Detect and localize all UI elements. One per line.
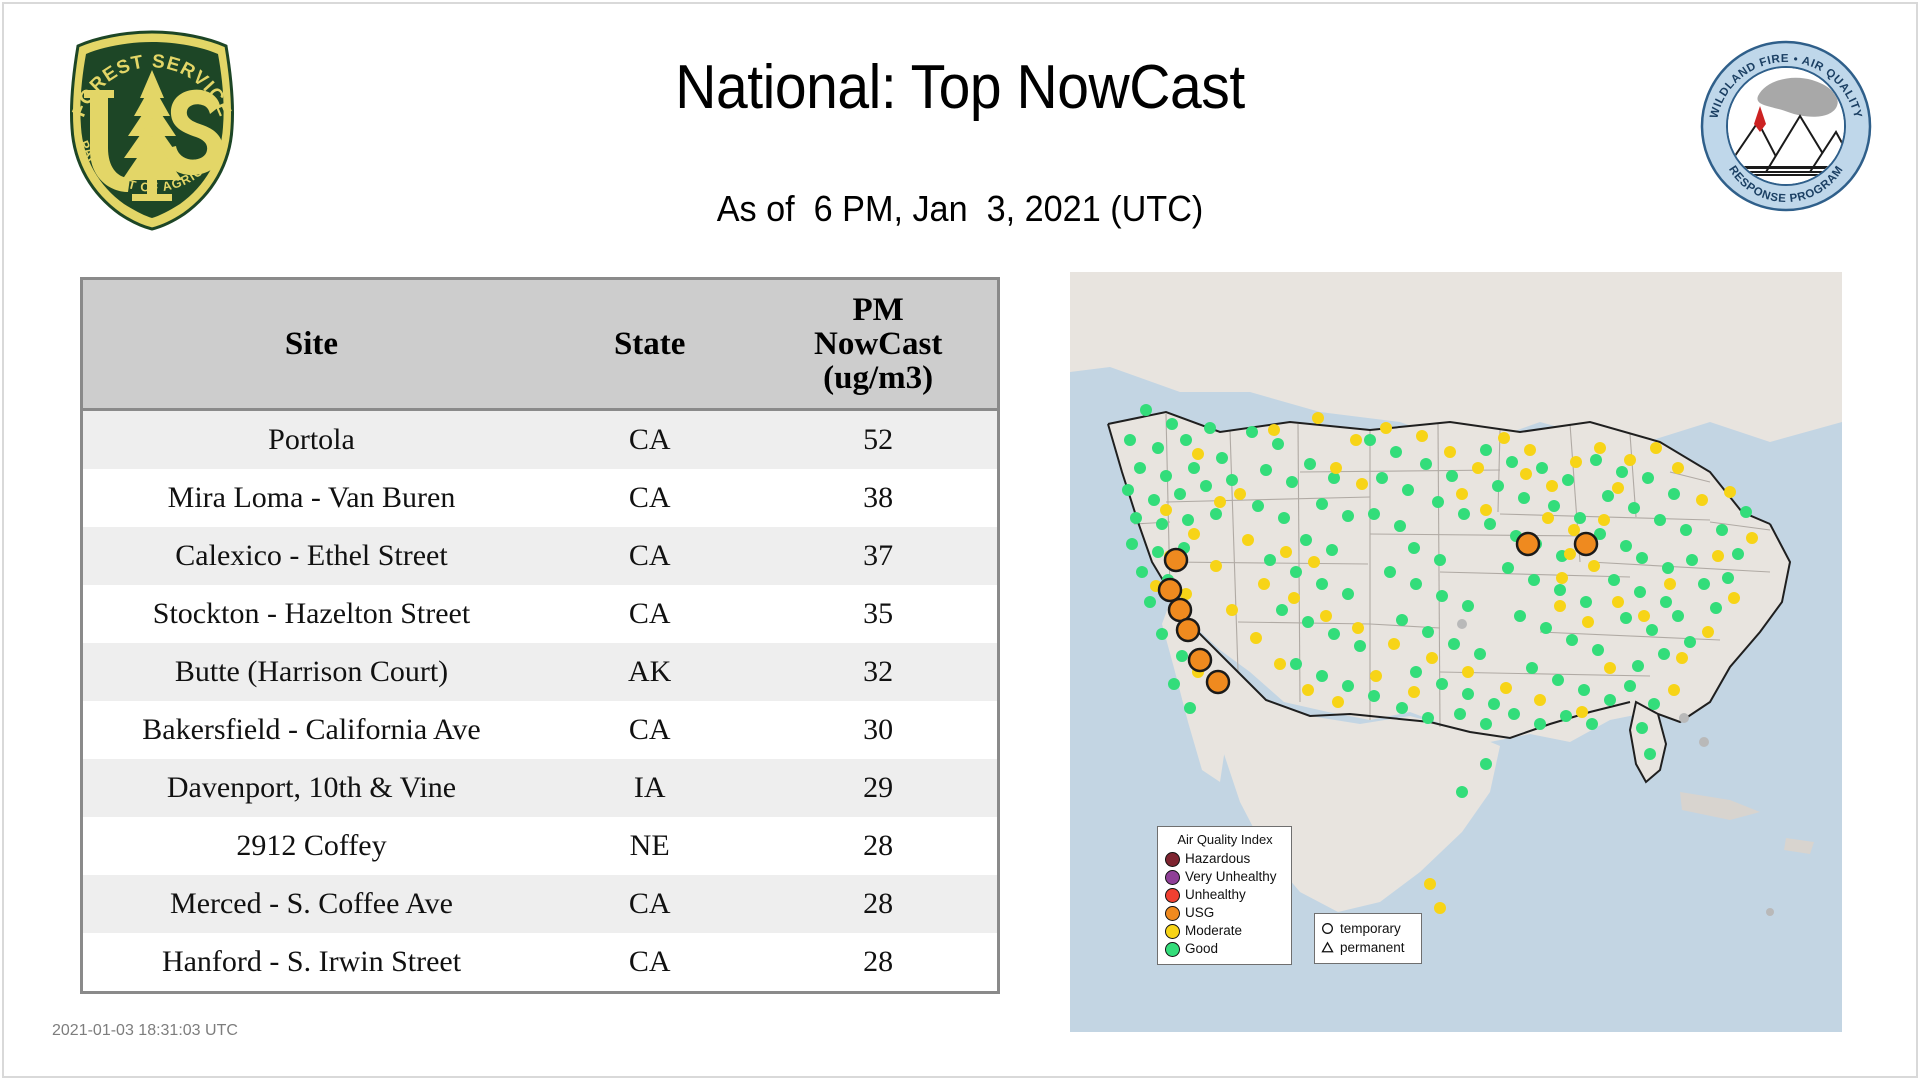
report-page: FOREST SERVICE DEPARTMENT OF AGRICULTURE [0,0,1920,1080]
aqi-color-swatch-icon [1165,888,1180,903]
footer-timestamp: 2021-01-03 18:31:03 UTC [52,1022,238,1040]
aqi-legend-row: Moderate [1165,922,1285,940]
table-cell-pm: 29 [759,759,997,817]
aqi-legend-label: Moderate [1185,924,1242,938]
column-header-pm-line-1: PM [759,293,997,327]
aqi-legend-label: Good [1185,942,1218,956]
column-header-pm-line-3: (ug/m3) [759,361,997,395]
table-cell-site: Mira Loma - Van Buren [83,469,540,527]
table-cell-site: Merced - S. Coffee Ave [83,875,540,933]
table-cell-pm: 35 [759,585,997,643]
aqi-legend-row: Good [1165,940,1285,958]
aqi-color-swatch-icon [1165,870,1180,885]
column-header-state-label: State [614,326,685,362]
table-body: PortolaCA52Mira Loma - Van BurenCA38Cale… [83,410,997,992]
table-cell-site: Calexico - Ethel Street [83,527,540,585]
table-cell-pm: 37 [759,527,997,585]
circle-icon [1321,922,1334,935]
legend-label-permanent: permanent [1340,941,1405,955]
aqi-color-swatch-icon [1165,942,1180,957]
wfaqrp-badge-logo: WILDLAND FIRE • AIR QUALITY RESPONSE PRO… [1700,40,1872,212]
monitor-type-legend: temporary permanent [1314,913,1422,964]
aqi-legend: Air Quality Index HazardousVery Unhealth… [1157,826,1292,965]
page-subtitle: As of 6 PM, Jan 3, 2021 (UTC) [48,188,1872,230]
table-cell-state: CA [540,875,759,933]
table-cell-state: IA [540,759,759,817]
column-header-state: State [540,280,759,410]
page-title: National: Top NowCast [77,52,1843,123]
aqi-color-swatch-icon [1165,852,1180,867]
table-cell-state: NE [540,817,759,875]
table-cell-site: Hanford - S. Irwin Street [83,933,540,991]
table-cell-site: 2912 Coffey [83,817,540,875]
aqi-legend-row: Unhealthy [1165,886,1285,904]
table-cell-pm: 28 [759,817,997,875]
legend-row-permanent: permanent [1321,938,1415,957]
aqi-legend-items: HazardousVery UnhealthyUnhealthyUSGModer… [1165,850,1285,958]
table-cell-site: Bakersfield - California Ave [83,701,540,759]
table-row: Stockton - Hazelton StreetCA35 [83,585,997,643]
table-cell-pm: 28 [759,933,997,991]
aqi-legend-label: Unhealthy [1185,888,1246,902]
aqi-legend-row: Very Unhealthy [1165,868,1285,886]
column-header-pm-nowcast: PM NowCast (ug/m3) [759,280,997,410]
column-header-site: Site [83,280,540,410]
aqi-legend-row: USG [1165,904,1285,922]
aqi-legend-label: Very Unhealthy [1185,870,1277,884]
table-cell-state: CA [540,585,759,643]
legend-label-temporary: temporary [1340,922,1401,936]
table-cell-state: CA [540,410,759,470]
aqi-legend-row: Hazardous [1165,850,1285,868]
aqi-color-swatch-icon [1165,906,1180,921]
table-header-row: Site State PM NowCast (ug/m3) [83,280,997,410]
table-row: Davenport, 10th & VineIA29 [83,759,997,817]
table-cell-pm: 30 [759,701,997,759]
table-cell-pm: 32 [759,643,997,701]
table-cell-state: CA [540,527,759,585]
table-cell-pm: 38 [759,469,997,527]
nowcast-table: Site State PM NowCast (ug/m3) PortolaCA5… [83,280,997,991]
column-header-site-label: Site [285,326,338,362]
table-row: Mira Loma - Van BurenCA38 [83,469,997,527]
table-row: Calexico - Ethel StreetCA37 [83,527,997,585]
aqi-color-swatch-icon [1165,924,1180,939]
table-row: Butte (Harrison Court)AK32 [83,643,997,701]
table-cell-site: Butte (Harrison Court) [83,643,540,701]
table-cell-pm: 52 [759,410,997,470]
aqi-legend-label: Hazardous [1185,852,1250,866]
legend-row-temporary: temporary [1321,919,1415,938]
table-cell-site: Portola [83,410,540,470]
table-row: PortolaCA52 [83,410,997,470]
table-cell-state: AK [540,643,759,701]
column-header-pm-line-2: NowCast [759,327,997,361]
triangle-icon [1321,941,1334,954]
table-cell-state: CA [540,933,759,991]
table-cell-pm: 28 [759,875,997,933]
table-cell-state: CA [540,469,759,527]
table-row: Hanford - S. Irwin StreetCA28 [83,933,997,991]
aqi-legend-label: USG [1185,906,1214,920]
table-cell-site: Davenport, 10th & Vine [83,759,540,817]
table-cell-site: Stockton - Hazelton Street [83,585,540,643]
nowcast-table-container: Site State PM NowCast (ug/m3) PortolaCA5… [80,277,1000,994]
table-cell-state: CA [540,701,759,759]
table-row: Bakersfield - California AveCA30 [83,701,997,759]
aqi-legend-title: Air Quality Index [1165,832,1285,847]
table-row: Merced - S. Coffee AveCA28 [83,875,997,933]
table-row: 2912 CoffeyNE28 [83,817,997,875]
